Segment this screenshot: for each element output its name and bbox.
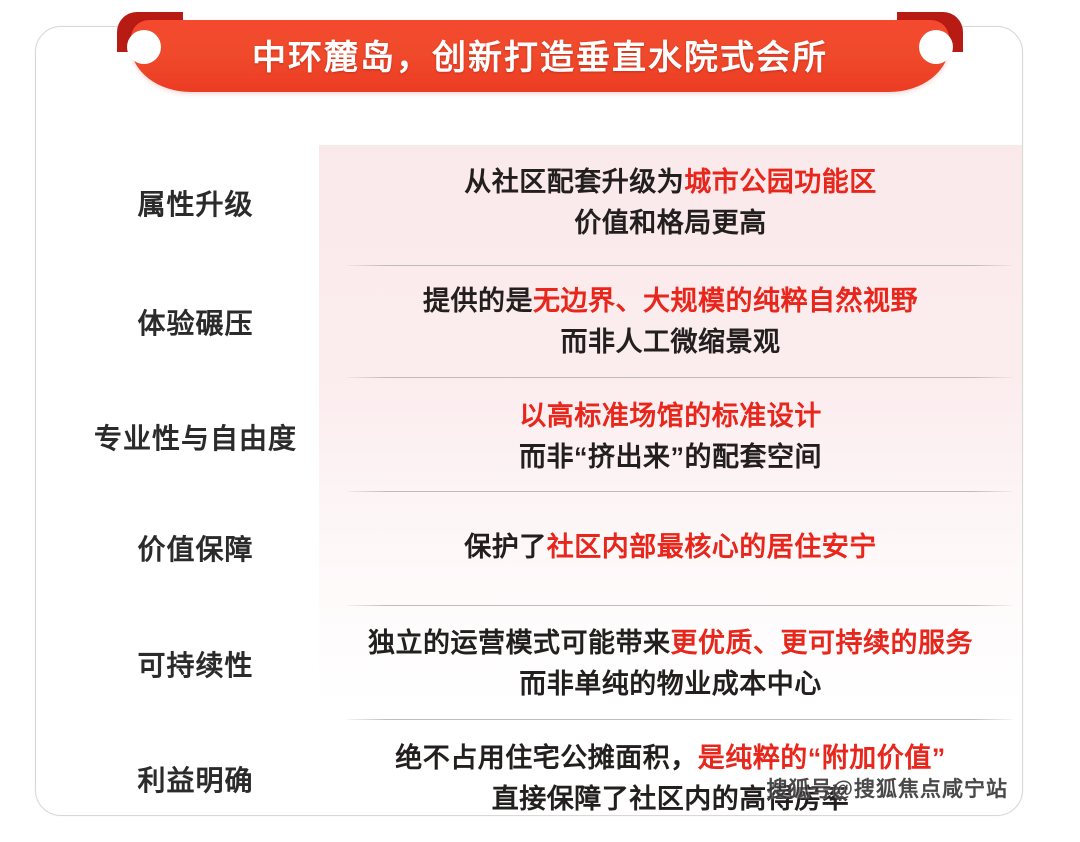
row-divider (347, 265, 1012, 266)
row-line-secondary: 而非人工微缩景观 (341, 322, 1000, 363)
info-card: 属性升级 从社区配套升级为城市公园功能区 价值和格局更高 体验碾压 提供的是无边… (35, 26, 1023, 816)
row-line-highlight: 是纯粹的“附加价值” (698, 743, 946, 773)
row-line-secondary: 而非“挤出来”的配套空间 (341, 437, 1000, 478)
table-row: 价值保障 保护了社区内部最核心的居住安宁 (72, 495, 1022, 601)
table-row: 体验碾压 提供的是无边界、大规模的纯粹自然视野 而非人工微缩景观 (72, 267, 1022, 377)
row-label-experience-crush: 体验碾压 (72, 302, 319, 342)
row-divider (347, 605, 1012, 606)
comparison-table: 属性升级 从社区配套升级为城市公园功能区 价值和格局更高 体验碾压 提供的是无边… (72, 119, 1022, 819)
table-row: 专业性与自由度 以高标准场馆的标准设计 而非“挤出来”的配套空间 (72, 381, 1022, 493)
row-content-value-guarantee: 保护了社区内部最核心的居住安宁 (319, 527, 1022, 568)
row-line-secondary: 价值和格局更高 (341, 203, 1000, 244)
row-line-plain: 提供的是 (423, 286, 533, 316)
row-line-plain: 绝不占用住宅公摊面积， (395, 743, 698, 773)
ribbon-banner: 中环麓岛，创新打造垂直水院式会所 (117, 8, 963, 92)
row-line-primary: 从社区配套升级为城市公园功能区 (341, 162, 1000, 203)
row-label-value-guarantee: 价值保障 (72, 528, 319, 568)
row-line-highlight: 城市公园功能区 (684, 167, 877, 197)
table-row: 属性升级 从社区配套升级为城市公园功能区 价值和格局更高 (72, 147, 1022, 259)
row-divider (347, 719, 1012, 720)
row-line-highlight: 以高标准场馆的标准设计 (519, 401, 822, 431)
row-line-primary: 独立的运营模式可能带来更优质、更可持续的服务 (341, 623, 1000, 664)
row-content-attribute-upgrade: 从社区配套升级为城市公园功能区 价值和格局更高 (319, 162, 1022, 244)
row-line-highlight: 无边界、大规模的纯粹自然视野 (533, 286, 918, 316)
row-divider (347, 491, 1012, 492)
row-content-sustainability: 独立的运营模式可能带来更优质、更可持续的服务 而非单纯的物业成本中心 (319, 623, 1022, 705)
row-line-primary: 以高标准场馆的标准设计 (341, 396, 1000, 437)
row-label-attribute-upgrade: 属性升级 (72, 183, 319, 223)
banner-title: 中环麓岛，创新打造垂直水院式会所 (117, 30, 963, 79)
row-line-plain: 独立的运营模式可能带来 (368, 628, 671, 658)
row-line-plain: 保护了 (464, 532, 547, 562)
row-label-professionalism-freedom: 专业性与自由度 (72, 417, 319, 457)
row-line-primary: 保护了社区内部最核心的居住安宁 (341, 527, 1000, 568)
row-divider (347, 377, 1012, 378)
row-label-clear-benefit: 利益明确 (72, 759, 319, 799)
watermark-text: 搜狐号@搜狐焦点咸宁站 (767, 773, 1008, 803)
row-line-secondary: 而非单纯的物业成本中心 (341, 664, 1000, 705)
table-row: 可持续性 独立的运营模式可能带来更优质、更可持续的服务 而非单纯的物业成本中心 (72, 609, 1022, 719)
row-content-experience-crush: 提供的是无边界、大规模的纯粹自然视野 而非人工微缩景观 (319, 281, 1022, 363)
row-line-primary: 提供的是无边界、大规模的纯粹自然视野 (341, 281, 1000, 322)
row-label-sustainability: 可持续性 (72, 644, 319, 684)
row-content-professionalism-freedom: 以高标准场馆的标准设计 而非“挤出来”的配套空间 (319, 396, 1022, 478)
row-line-highlight: 社区内部最核心的居住安宁 (547, 532, 877, 562)
row-line-highlight: 更优质、更可持续的服务 (671, 628, 974, 658)
row-line-plain: 从社区配套升级为 (464, 167, 684, 197)
